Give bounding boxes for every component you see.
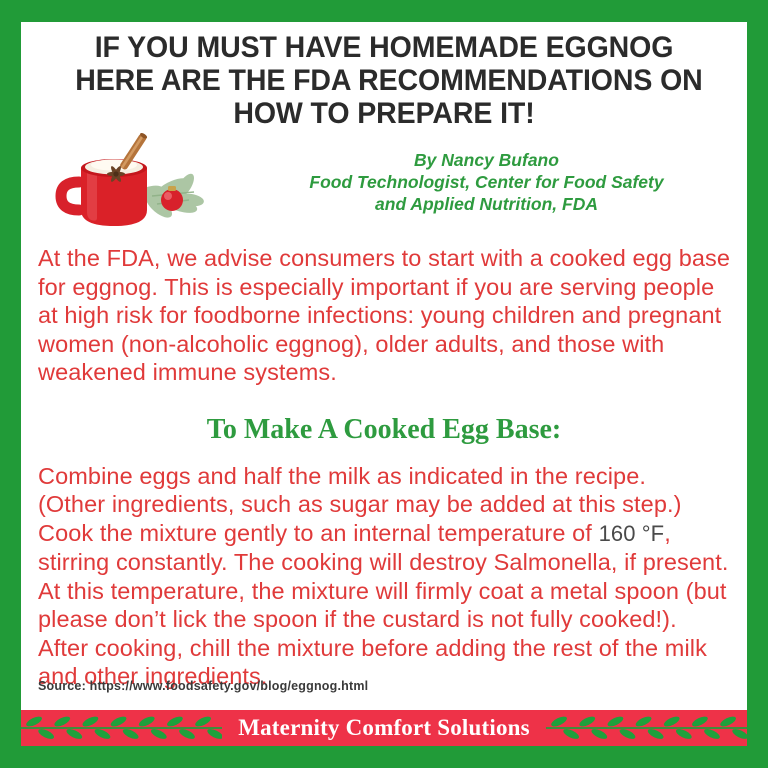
byline: By Nancy Bufano Food Technologist, Cente… bbox=[236, 149, 737, 215]
eggnog-mug-photo bbox=[39, 130, 235, 236]
brand-banner: Maternity Comfort Solutions bbox=[21, 710, 747, 746]
recipe-paragraph: Combine eggs and half the milk as indica… bbox=[21, 462, 747, 691]
page-title: IF YOU MUST HAVE HOMEMADE EGGNOG HERE AR… bbox=[21, 22, 747, 130]
section-heading: To Make A Cooked Egg Base: bbox=[21, 414, 747, 446]
holly-vine-icon-right bbox=[546, 715, 747, 741]
title-line-3: HOW TO PREPARE IT! bbox=[75, 97, 693, 130]
cooking-temperature: 160 °F bbox=[599, 521, 665, 546]
infographic-poster: IF YOU MUST HAVE HOMEMADE EGGNOG HERE AR… bbox=[0, 0, 768, 768]
holly-vine-icon-left bbox=[21, 715, 222, 741]
poster-card: IF YOU MUST HAVE HOMEMADE EGGNOG HERE AR… bbox=[21, 22, 747, 746]
intro-paragraph: At the FDA, we advise consumers to start… bbox=[21, 244, 747, 387]
recipe-line-1: Combine eggs and half the milk as indica… bbox=[38, 462, 731, 491]
byline-role-2: and Applied Nutrition, FDA bbox=[236, 193, 737, 215]
title-line-2: HERE ARE THE FDA RECOMMENDATIONS ON bbox=[75, 64, 693, 97]
source-citation: Source: https://www.foodsafety.gov/blog/… bbox=[38, 679, 368, 693]
brand-name: Maternity Comfort Solutions bbox=[222, 715, 546, 741]
title-line-1: IF YOU MUST HAVE HOMEMADE EGGNOG bbox=[75, 31, 693, 64]
header-row: By Nancy Bufano Food Technologist, Cente… bbox=[21, 132, 747, 236]
byline-role-1: Food Technologist, Center for Food Safet… bbox=[236, 171, 737, 193]
byline-author: By Nancy Bufano bbox=[236, 149, 737, 171]
recipe-line-3-before: Cook the mixture gently to an internal t… bbox=[38, 520, 599, 546]
recipe-line-2: (Other ingredients, such as sugar may be… bbox=[38, 490, 731, 519]
